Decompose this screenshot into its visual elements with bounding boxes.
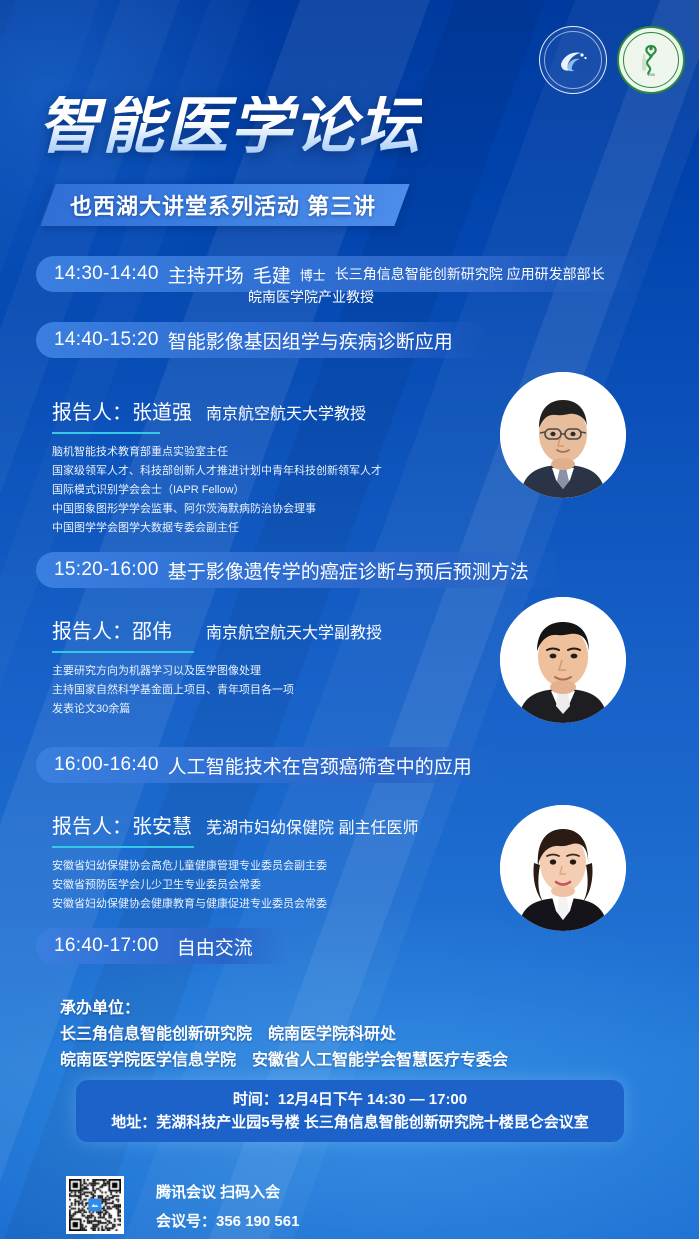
speaker-name-2: 张安慧 (132, 816, 192, 838)
speaker-bio-line-0-1: 国家级领军人才、科技部创新人才推进计划中青年科技创新领军人才 (52, 462, 382, 481)
session-time-2: 15:20-16:00 (54, 559, 159, 581)
speaker-bio-line-0-0: 脑机智能技术教育部重点实验室主任 (52, 443, 382, 462)
qr-code-block (66, 1176, 124, 1234)
speaker-block-2: 报告人：张安慧芜湖市妇幼保健院 副主任医师 安徽省妇幼保健协会高危儿童健康管理专… (52, 810, 418, 914)
session-time-0: 14:30-14:40 (54, 263, 159, 285)
session-topic-3: 人工智能技术在宫颈癌筛查中的应用 (168, 752, 472, 779)
speaker-bio-line-2-0: 安徽省妇幼保健协会高危儿童健康管理专业委员会副主委 (52, 857, 418, 876)
speaker-bio-line-0-4: 中国图学学会图学大数据专委会副主任 (52, 519, 382, 538)
organizer-heading: 承办单位： (60, 996, 508, 1022)
session-affiliation2-0: 皖南医学院产业教授 (248, 287, 374, 307)
speaker-affiliation-2: 芜湖市妇幼保健院 副主任医师 (206, 820, 418, 837)
tencent-meeting-icon (89, 1199, 102, 1212)
speaker-block-0: 报告人：张道强南京航空航天大学教授 脑机智能技术教育部重点实验室主任 国家级领军… (52, 396, 382, 538)
speaker-photo-zhangdaoqiang (500, 372, 626, 498)
speaker-affiliation-1: 南京航空航天大学副教授 (206, 625, 382, 642)
tencent-meeting-qr-code[interactable] (66, 1176, 124, 1234)
header-logos: 1958 (539, 26, 685, 94)
speaker-name-0: 张道强 (132, 402, 192, 424)
event-address: 地址：芜湖科技产业园5号楼 长三角信息智能创新研究院十楼昆仑会议室 (111, 1111, 589, 1134)
speaker-headline-2: 报告人：张安慧芜湖市妇幼保健院 副主任医师 (52, 810, 418, 839)
meeting-info: 腾讯会议 扫码入会 会议号：356 190 561 (156, 1178, 299, 1237)
poster-root: 1958 智能医学论坛 也西湖大讲堂系列活动 第三讲 14:30-14:40 主… (0, 0, 699, 1239)
speaker-bio-line-0-2: 国际模式识别学会会士（IAPR Fellow） (52, 481, 382, 500)
organizer-line-2: 皖南医学院医学信息学院 安徽省人工智能学会智慧医疗专委会 (60, 1048, 508, 1074)
session-person-0: 毛建 (253, 261, 291, 288)
qr-label: 腾讯会议 扫码入会 (156, 1178, 299, 1207)
speaker-name-1: 邵伟 (132, 621, 172, 643)
session-topic-0: 主持开场 (168, 261, 244, 288)
organizer-block: 承办单位： 长三角信息智能创新研究院 皖南医学院科研处 皖南医学院医学信息学院 … (60, 996, 508, 1074)
session-time-4: 16:40-17:00 (54, 935, 159, 957)
speaker-bio-line-0-3: 中国图象图形学学会监事、阿尔茨海默病防治协会理事 (52, 500, 382, 519)
session-pill-3[interactable]: 16:00-16:40 人工智能技术在宫颈癌筛查中的应用 (36, 747, 506, 783)
session-pill-1[interactable]: 14:40-15:20 智能影像基因组学与疾病诊断应用 (36, 322, 487, 358)
session-degree-0: 博士 (300, 265, 326, 284)
event-time: 时间：12月4日下午 14:30 — 17:00 (233, 1088, 467, 1111)
subtitle-banner: 也西湖大讲堂系列活动 第三讲 (40, 184, 409, 226)
meeting-id: 会议号：356 190 561 (156, 1207, 299, 1236)
session-affiliation-0: 长三角信息智能创新研究院 应用研发部部长 (335, 264, 605, 284)
speaker-bio-line-2-2: 安徽省妇幼保健协会健康教育与健康促进专业委员会常委 (52, 895, 418, 914)
speaker-affiliation-0: 南京航空航天大学教授 (206, 406, 366, 423)
speaker-headline-1: 报告人：邵伟南京航空航天大学副教授 (52, 615, 382, 644)
page-title: 智能医学论坛 (38, 96, 422, 158)
session-topic-2: 基于影像遗传学的癌症诊断与预后预测方法 (168, 557, 529, 584)
speaker-block-1: 报告人：邵伟南京航空航天大学副教授 主要研究方向为机器学习以及医学图像处理 主持… (52, 615, 382, 719)
speaker-bio-line-1-2: 发表论文30余篇 (52, 700, 382, 719)
speaker-label-2: 报告人： (52, 816, 132, 838)
speaker-divider-0 (52, 432, 160, 434)
session-topic-4: 自由交流 (177, 933, 253, 960)
session-topic-1: 智能影像基因组学与疾病诊断应用 (168, 327, 453, 354)
subtitle-text: 也西湖大讲堂系列活动 第三讲 (70, 189, 376, 221)
speaker-bio-line-1-0: 主要研究方向为机器学习以及医学图像处理 (52, 662, 382, 681)
session-pill-4[interactable]: 16:40-17:00 自由交流 (36, 928, 287, 964)
speaker-divider-1 (52, 651, 194, 653)
speaker-label-0: 报告人： (52, 402, 132, 424)
speaker-photo-zhanganhui (500, 805, 626, 931)
session-time-1: 14:40-15:20 (54, 329, 159, 351)
svg-text:1958: 1958 (647, 73, 655, 77)
speaker-divider-2 (52, 846, 194, 848)
poster-title-block: 智能医学论坛 (38, 96, 422, 158)
speaker-bio-line-2-1: 安徽省预防医学会儿少卫生专业委员会常委 (52, 876, 418, 895)
speaker-bio-line-1-1: 主持国家自然科学基金面上项目、青年项目各一项 (52, 681, 382, 700)
changsanjiao-institute-logo (539, 26, 607, 94)
speaker-label-1: 报告人： (52, 621, 132, 643)
session-time-3: 16:00-16:40 (54, 754, 159, 776)
event-info-box: 时间：12月4日下午 14:30 — 17:00 地址：芜湖科技产业园5号楼 长… (76, 1080, 624, 1142)
session-pill-2[interactable]: 15:20-16:00 基于影像遗传学的癌症诊断与预后预测方法 (36, 552, 563, 588)
wannan-medical-college-logo: 1958 (617, 26, 685, 94)
speaker-headline-0: 报告人：张道强南京航空航天大学教授 (52, 396, 382, 425)
speaker-photo-shaowei (500, 597, 626, 723)
organizer-line-1: 长三角信息智能创新研究院 皖南医学院科研处 (60, 1022, 508, 1048)
